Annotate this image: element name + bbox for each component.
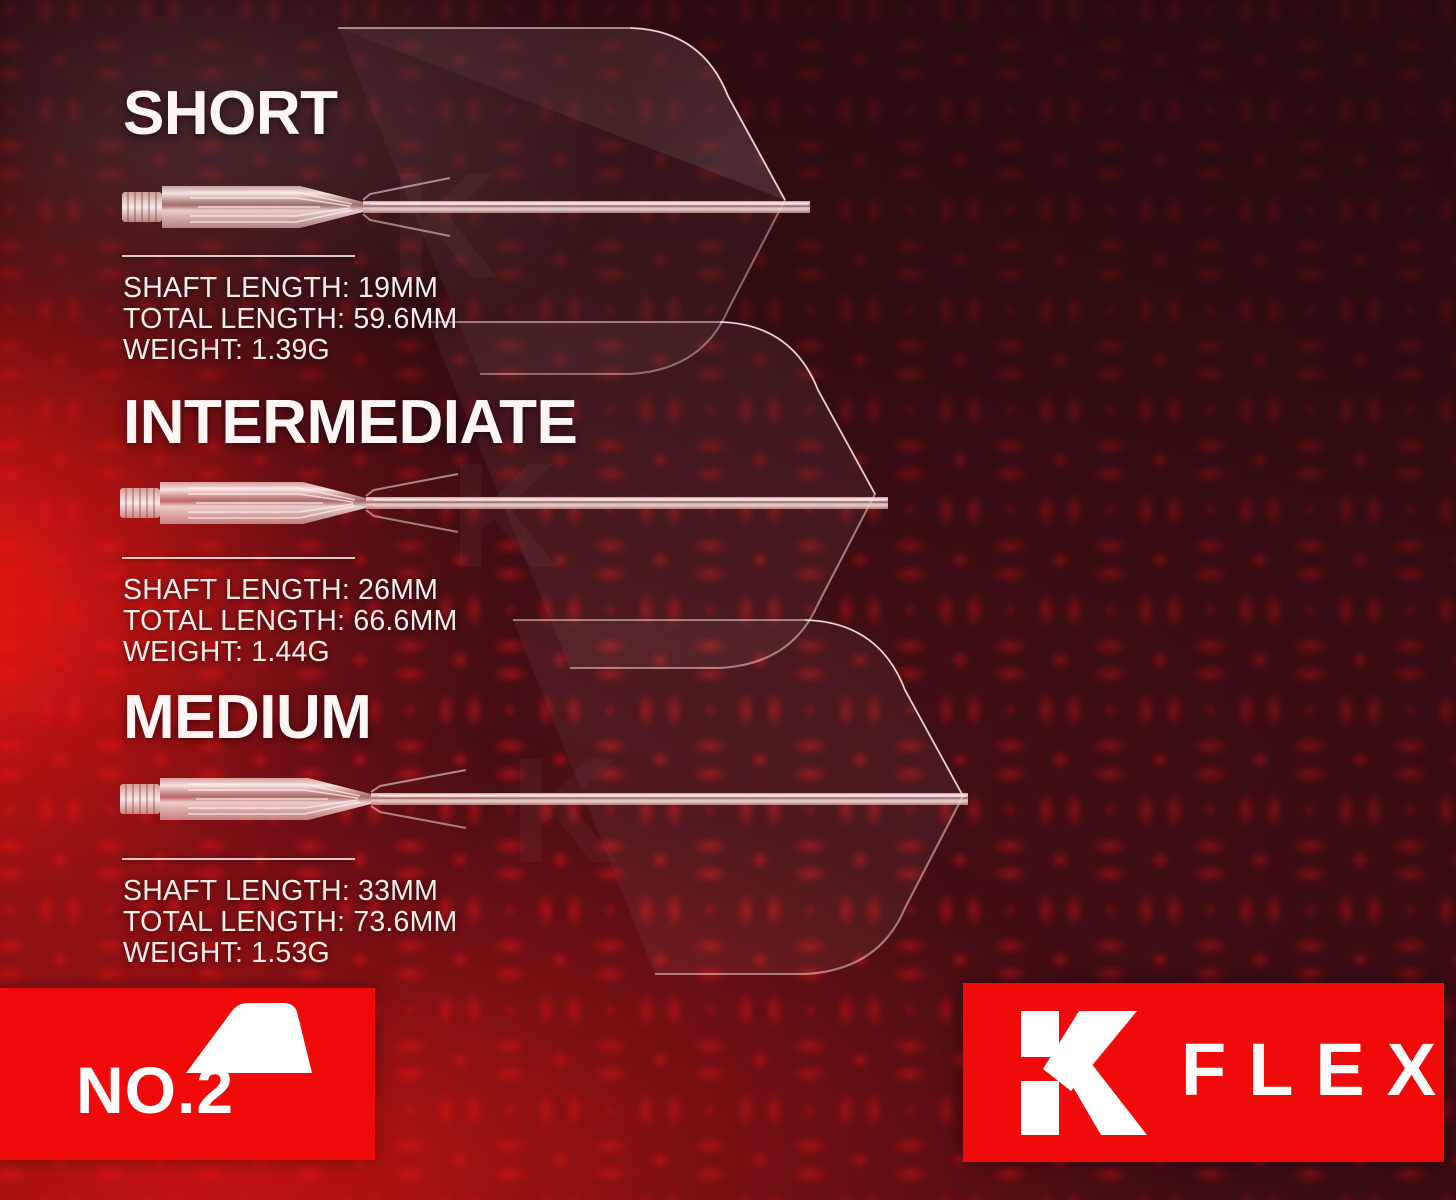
product-title: MEDIUM	[123, 687, 371, 749]
divider-rule	[122, 255, 355, 257]
spec-weight: WEIGHT: 1.44G	[123, 637, 457, 668]
product-title: SHORT	[123, 83, 338, 145]
product-block-short: SHORT	[123, 83, 338, 145]
spec-total-length: TOTAL LENGTH: 59.6MM	[123, 304, 457, 335]
spec-total-length: TOTAL LENGTH: 73.6MM	[123, 907, 457, 938]
product-specs-intermediate: SHAFT LENGTH: 26MM TOTAL LENGTH: 66.6MM …	[123, 575, 457, 668]
no2-badge-banner: NO.2	[0, 988, 375, 1160]
spec-shaft-length: SHAFT LENGTH: 33MM	[123, 876, 457, 907]
product-block-intermediate: INTERMEDIATE	[123, 392, 577, 454]
spec-shaft-length: SHAFT LENGTH: 19MM	[123, 273, 457, 304]
no2-label-wrap: NO.2	[76, 1064, 234, 1117]
infographic-canvas: K K K	[0, 0, 1456, 1200]
spec-weight: WEIGHT: 1.39G	[123, 335, 457, 366]
divider-rule	[122, 557, 355, 559]
product-specs-short: SHAFT LENGTH: 19MM TOTAL LENGTH: 59.6MM …	[123, 273, 457, 366]
spec-shaft-length: SHAFT LENGTH: 26MM	[123, 575, 457, 606]
spec-total-length: TOTAL LENGTH: 66.6MM	[123, 606, 457, 637]
product-specs-medium: SHAFT LENGTH: 33MM TOTAL LENGTH: 73.6MM …	[123, 876, 457, 969]
k-logo-icon	[1019, 999, 1149, 1147]
flex-label: FLEX	[1181, 1033, 1456, 1107]
divider-rule	[122, 858, 355, 860]
no2-label: NO.2	[76, 1064, 234, 1117]
spec-weight: WEIGHT: 1.53G	[123, 938, 457, 969]
product-block-medium: MEDIUM	[123, 687, 371, 749]
product-title: INTERMEDIATE	[123, 392, 577, 454]
kflex-brand-banner: FLEX	[963, 983, 1444, 1162]
